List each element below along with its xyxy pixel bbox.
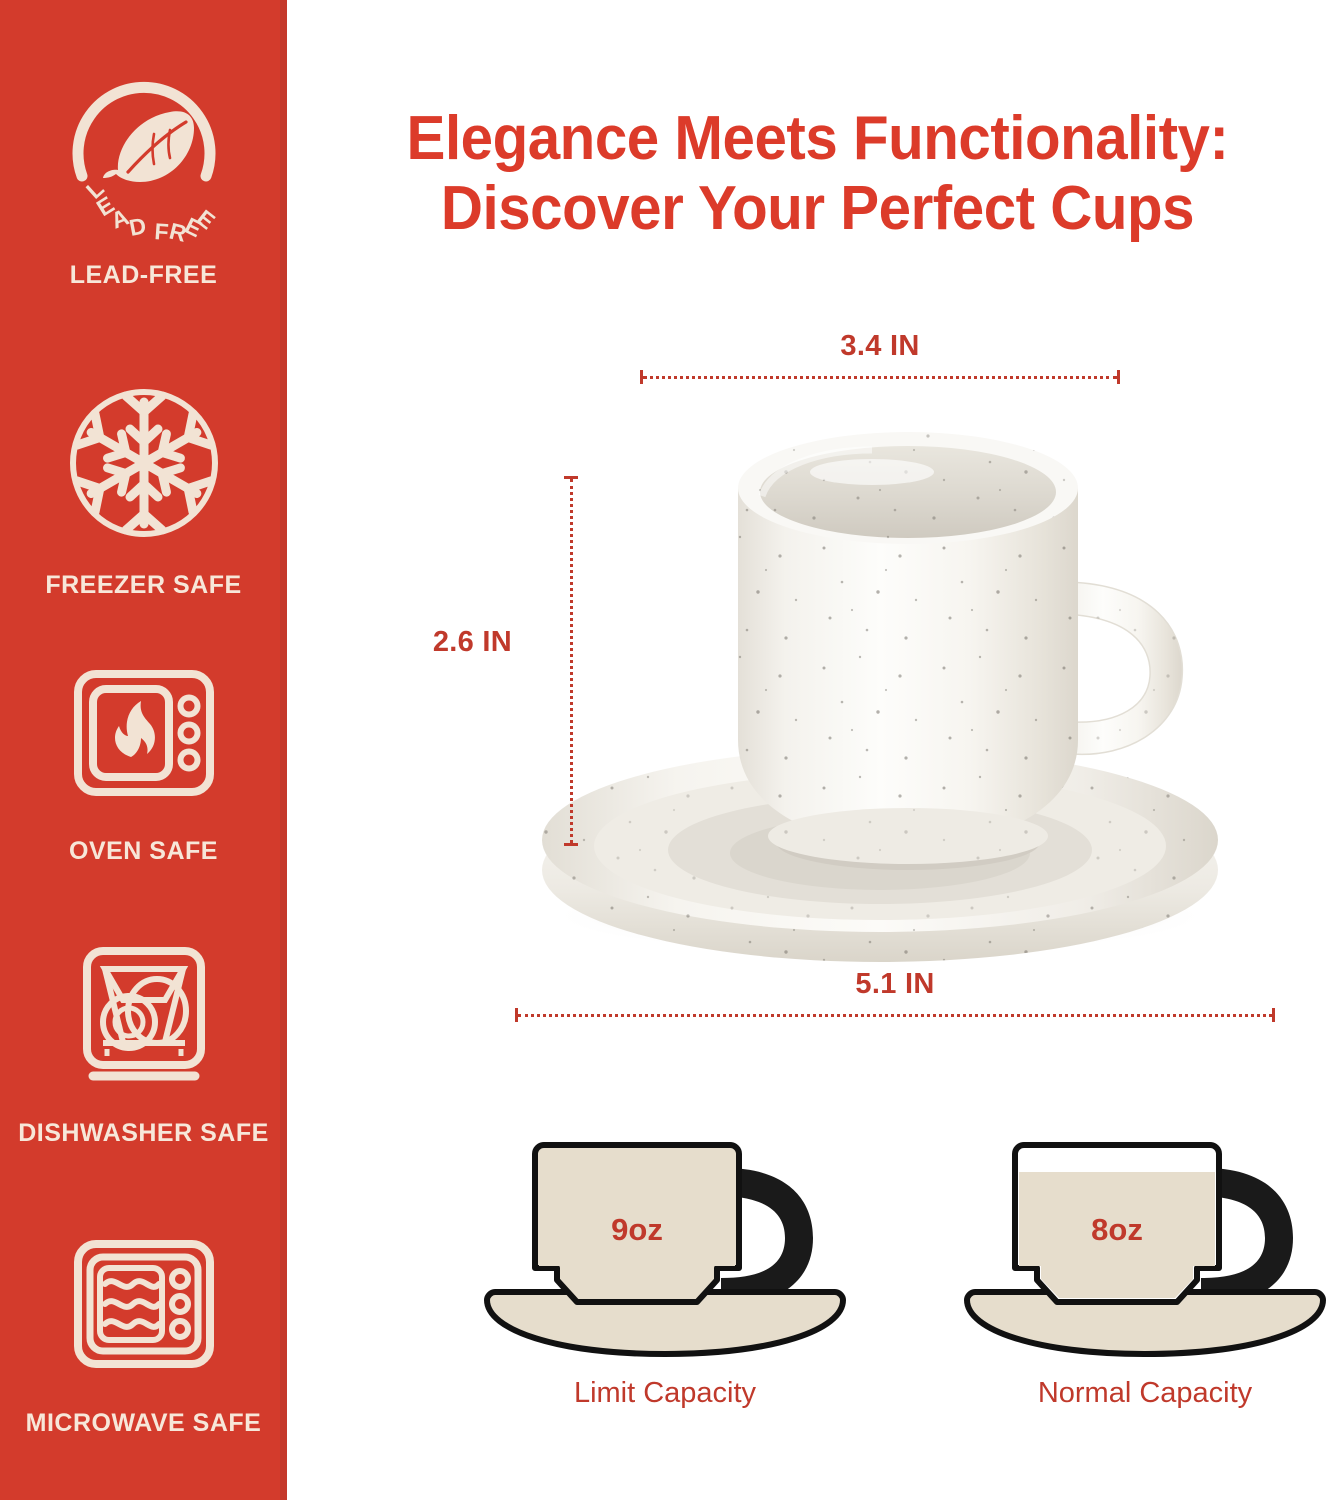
dimension-cup-diameter-label: 3.4 IN (640, 330, 1120, 363)
feature-freezer-safe: FREEZER SAFE (0, 382, 287, 600)
capacity-caption-normal: Normal Capacity (935, 1377, 1335, 1410)
dimension-saucer-diameter: 5.1 IN (515, 968, 1275, 1022)
features-sidebar: L E A D F R E E LEAD-FREE (0, 0, 287, 1500)
capacity-volume-normal: 8oz (1091, 1212, 1143, 1247)
dimension-cup-height: 2.6 IN (384, 476, 594, 846)
dimension-line-vertical-left (564, 476, 578, 846)
dimension-cap-bottom (564, 843, 578, 846)
page-title: Elegance Meets Functionality: Discover Y… (330, 104, 1305, 244)
oven-flame-icon (0, 660, 287, 811)
dimension-cap-right (1117, 370, 1120, 384)
snowflake-icon (0, 382, 287, 549)
product-dimensions-area: 3.4 IN 2.6 IN 5.1 IN (300, 300, 1335, 1080)
capacity-comparison-section: 9oz Limit Capacity 8oz Normal Capacity (300, 1140, 1335, 1440)
feature-label-lead-free: LEAD-FREE (0, 261, 287, 290)
capacity-item-normal: 8oz Normal Capacity (935, 1140, 1335, 1410)
feature-label-freezer-safe: FREEZER SAFE (0, 571, 287, 600)
dimension-dots (570, 479, 573, 843)
product-photo-cup-and-saucer (480, 410, 1280, 970)
headline-line-1: Elegance Meets Functionality: (359, 104, 1276, 174)
capacity-caption-limit: Limit Capacity (455, 1377, 875, 1410)
headline-line-2: Discover Your Perfect Cups (359, 174, 1276, 244)
dishwasher-dishes-icon (0, 942, 287, 1093)
feature-label-microwave-safe: MICROWAVE SAFE (0, 1409, 287, 1438)
dimension-line-horizontal-top (640, 370, 1120, 384)
dimension-cap-right (1272, 1008, 1275, 1022)
svg-text:D: D (126, 212, 147, 241)
feature-label-oven-safe: OVEN SAFE (0, 837, 287, 866)
leaf-lead-free-badge-icon: L E A D F R E E (0, 72, 287, 249)
dimension-cup-height-label: 2.6 IN (384, 626, 512, 659)
dimension-cup-diameter: 3.4 IN (640, 330, 1120, 384)
dimension-dots (518, 1014, 1272, 1017)
feature-lead-free: L E A D F R E E LEAD-FREE (0, 72, 287, 290)
feature-dishwasher-safe: DISHWASHER SAFE (0, 942, 287, 1148)
microwave-waves-icon (0, 1232, 287, 1383)
feature-label-dishwasher-safe: DISHWASHER SAFE (0, 1119, 287, 1148)
dimension-saucer-diameter-label: 5.1 IN (515, 968, 1275, 1001)
capacity-item-limit: 9oz Limit Capacity (455, 1140, 875, 1410)
capacity-volume-limit: 9oz (611, 1212, 663, 1247)
dimension-line-horizontal-bottom (515, 1008, 1275, 1022)
cup-diagram-limit-icon: 9oz (455, 1140, 875, 1373)
feature-microwave-safe: MICROWAVE SAFE (0, 1232, 287, 1438)
feature-oven-safe: OVEN SAFE (0, 660, 287, 866)
dimension-dots (643, 376, 1117, 379)
cup-diagram-normal-icon: 8oz (935, 1140, 1335, 1373)
